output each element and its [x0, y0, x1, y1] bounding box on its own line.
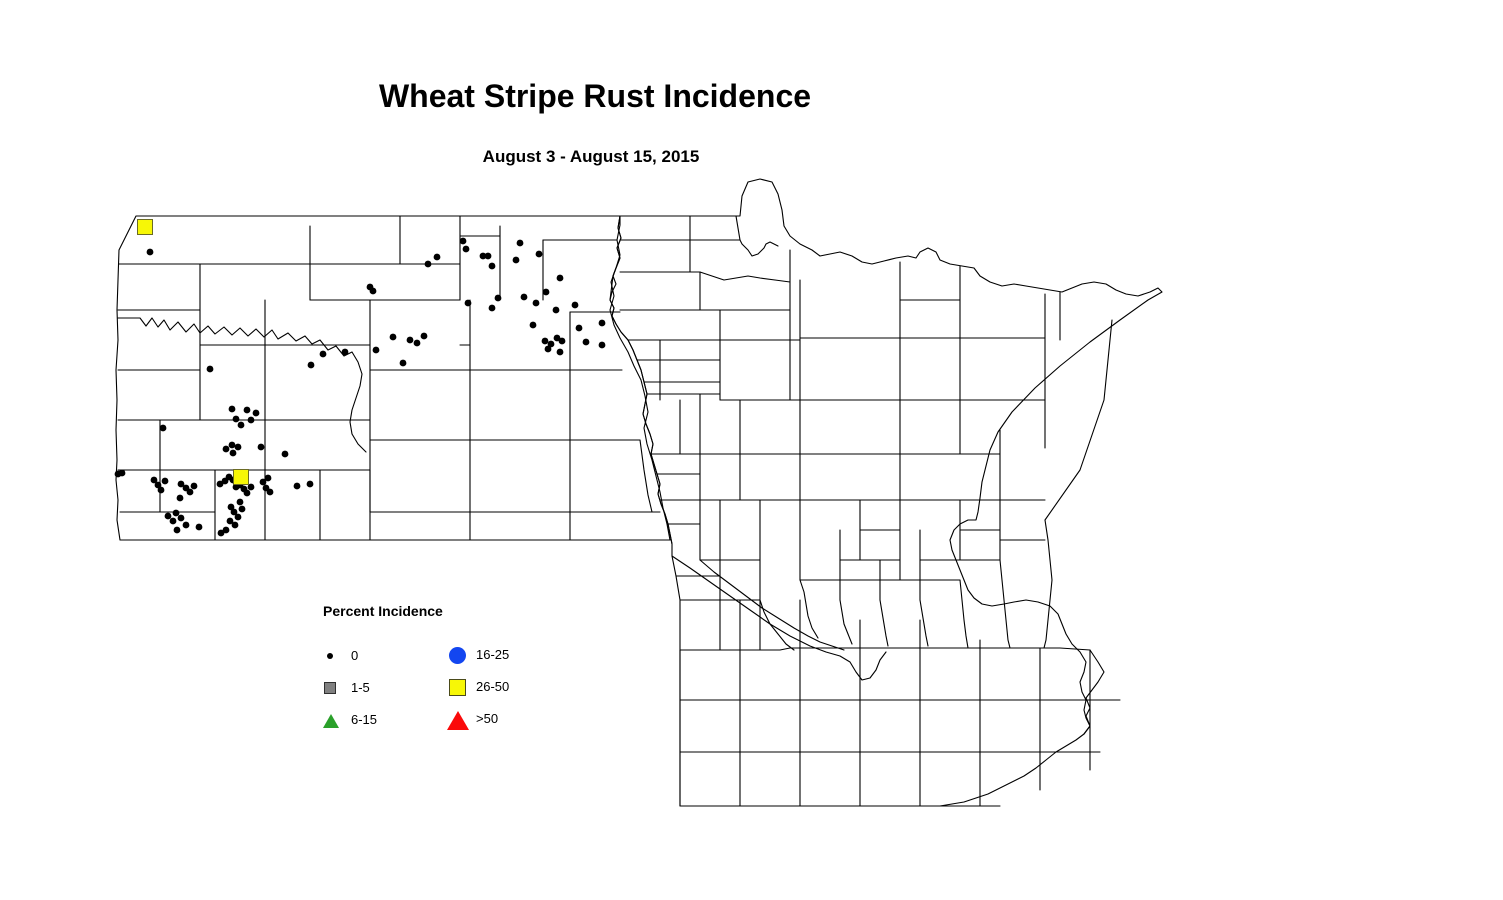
- map-marker-0[interactable]: [583, 339, 590, 346]
- map-marker-0[interactable]: [223, 446, 230, 453]
- minnesota-counties: [610, 179, 1162, 806]
- map-marker-0[interactable]: [196, 524, 203, 531]
- map-marker-0[interactable]: [425, 261, 432, 268]
- map-marker-0[interactable]: [599, 320, 606, 327]
- map-marker-0[interactable]: [465, 300, 472, 307]
- map-marker-0[interactable]: [233, 416, 240, 423]
- map-marker-0[interactable]: [294, 483, 301, 490]
- map-marker-0[interactable]: [559, 338, 566, 345]
- map-marker-0[interactable]: [307, 481, 314, 488]
- legend-label-26-50: 26-50: [476, 679, 509, 694]
- map-marker-0[interactable]: [460, 238, 467, 245]
- legend-label-6-15: 6-15: [351, 712, 377, 727]
- map-marker-26-50[interactable]: [234, 470, 249, 485]
- map-marker-0[interactable]: [235, 444, 242, 451]
- map-marker-0[interactable]: [191, 483, 198, 490]
- map-marker-0[interactable]: [400, 360, 407, 367]
- incidence-map[interactable]: [0, 0, 1503, 900]
- map-marker-0[interactable]: [536, 251, 543, 258]
- map-marker-0[interactable]: [542, 338, 549, 345]
- map-marker-0[interactable]: [232, 522, 239, 529]
- map-marker-0[interactable]: [545, 346, 552, 353]
- map-marker-0[interactable]: [513, 257, 520, 264]
- map-marker-0[interactable]: [265, 475, 272, 482]
- map-marker-0[interactable]: [489, 263, 496, 270]
- map-marker-0[interactable]: [223, 527, 230, 534]
- map-marker-0[interactable]: [543, 289, 550, 296]
- map-marker-0[interactable]: [183, 522, 190, 529]
- map-page: Wheat Stripe Rust Incidence August 3 - A…: [0, 0, 1503, 900]
- map-marker-0[interactable]: [237, 499, 244, 506]
- legend-label-0: 0: [351, 648, 358, 663]
- map-marker-0[interactable]: [173, 510, 180, 517]
- map-marker-0[interactable]: [119, 470, 126, 477]
- legend-label-gt50: >50: [476, 711, 498, 726]
- blue-circle-icon: [448, 645, 468, 665]
- map-marker-0[interactable]: [572, 302, 579, 309]
- legend-title: Percent Incidence: [323, 603, 443, 619]
- map-marker-0[interactable]: [407, 337, 414, 344]
- map-marker-0[interactable]: [239, 506, 246, 513]
- map-marker-0[interactable]: [434, 254, 441, 261]
- map-marker-0[interactable]: [187, 489, 194, 496]
- map-marker-0[interactable]: [244, 407, 251, 414]
- map-marker-0[interactable]: [160, 425, 167, 432]
- map-marker-0[interactable]: [414, 340, 421, 347]
- map-marker-0[interactable]: [235, 514, 242, 521]
- map-marker-0[interactable]: [390, 334, 397, 341]
- map-marker-0[interactable]: [229, 406, 236, 413]
- map-marker-0[interactable]: [421, 333, 428, 340]
- map-marker-0[interactable]: [521, 294, 528, 301]
- legend-label-16-25: 16-25: [476, 647, 509, 662]
- map-marker-0[interactable]: [342, 349, 349, 356]
- map-marker-0[interactable]: [489, 305, 496, 312]
- county-boundaries: [116, 216, 672, 544]
- map-marker-0[interactable]: [282, 451, 289, 458]
- map-marker-26-50[interactable]: [138, 220, 153, 235]
- red-triangle-icon: [448, 709, 468, 729]
- map-marker-0[interactable]: [557, 275, 564, 282]
- map-marker-0[interactable]: [599, 342, 606, 349]
- map-marker-0[interactable]: [248, 417, 255, 424]
- map-marker-0[interactable]: [530, 322, 537, 329]
- map-marker-0[interactable]: [370, 288, 377, 295]
- yellow-square-icon: [448, 677, 468, 697]
- map-marker-0[interactable]: [174, 527, 181, 534]
- map-marker-0[interactable]: [230, 450, 237, 457]
- map-marker-0[interactable]: [162, 478, 169, 485]
- map-marker-0[interactable]: [238, 422, 245, 429]
- map-marker-0[interactable]: [165, 513, 172, 520]
- legend-label-1-5: 1-5: [351, 680, 370, 695]
- map-marker-0[interactable]: [553, 307, 560, 314]
- map-marker-0[interactable]: [267, 489, 274, 496]
- map-marker-0[interactable]: [463, 246, 470, 253]
- map-marker-0[interactable]: [147, 249, 154, 256]
- map-marker-0[interactable]: [495, 295, 502, 302]
- legend: Percent Incidence 0 1-5 6-15 16-25 26-50…: [318, 603, 578, 738]
- map-marker-0[interactable]: [229, 442, 236, 449]
- small-black-dot-icon: [323, 646, 343, 666]
- map-marker-0[interactable]: [170, 518, 177, 525]
- map-marker-0[interactable]: [158, 487, 165, 494]
- map-marker-0[interactable]: [207, 366, 214, 373]
- map-marker-0[interactable]: [308, 362, 315, 369]
- gray-square-icon: [323, 678, 343, 698]
- map-marker-0[interactable]: [480, 253, 487, 260]
- green-triangle-icon: [323, 710, 343, 730]
- map-marker-0[interactable]: [178, 515, 185, 522]
- map-marker-0[interactable]: [533, 300, 540, 307]
- map-marker-0[interactable]: [373, 347, 380, 354]
- incidence-markers[interactable]: [115, 220, 606, 537]
- map-marker-0[interactable]: [258, 444, 265, 451]
- map-marker-0[interactable]: [320, 351, 327, 358]
- map-marker-0[interactable]: [253, 410, 260, 417]
- map-marker-0[interactable]: [244, 490, 251, 497]
- map-marker-0[interactable]: [557, 349, 564, 356]
- map-marker-0[interactable]: [517, 240, 524, 247]
- map-marker-0[interactable]: [177, 495, 184, 502]
- map-marker-0[interactable]: [576, 325, 583, 332]
